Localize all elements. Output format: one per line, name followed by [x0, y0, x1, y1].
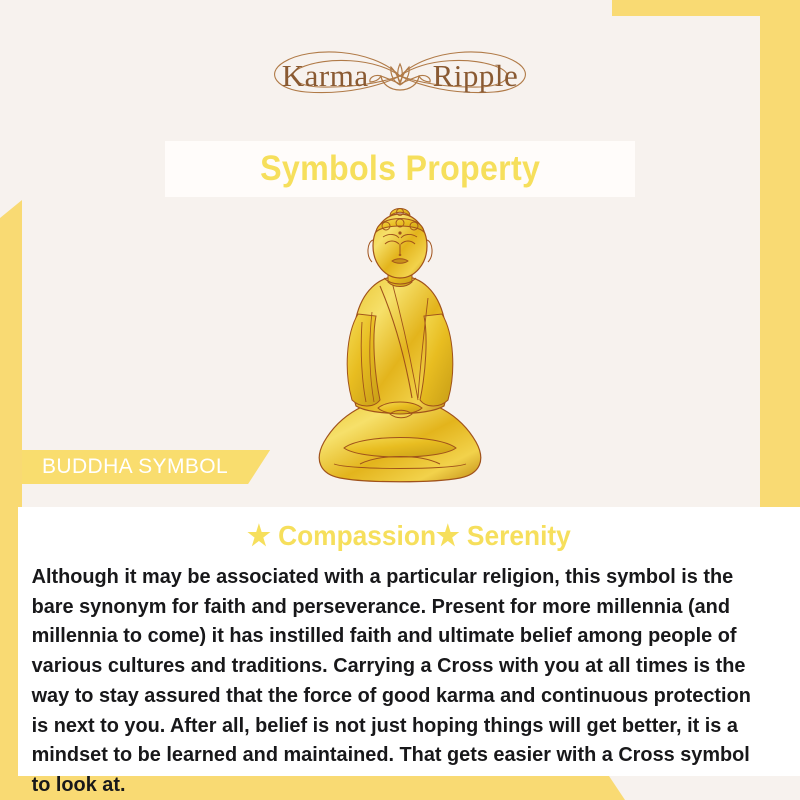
ribbon-label: BUDDHA SYMBOL: [42, 455, 228, 479]
buddha-figure: [0, 202, 800, 492]
golden-buddha-statue-icon: [300, 202, 500, 492]
brand-name-right: Ripple: [433, 58, 519, 94]
content-paragraph: Although it may be associated with a par…: [18, 558, 777, 800]
brand-logo: Karma Ripple: [0, 40, 800, 112]
brand-name-left: Karma: [282, 58, 369, 94]
page-title: Symbols Property: [260, 149, 540, 189]
buddha-symbol-ribbon: BUDDHA SYMBOL: [22, 450, 270, 484]
content-subtitle: ★ Compassion★ Serenity: [41, 507, 776, 558]
content-panel: ★ Compassion★ Serenity Although it may b…: [18, 507, 800, 776]
infographic-page: Karma Ripple Symbols Property: [0, 0, 800, 800]
title-banner: Symbols Property: [165, 141, 635, 197]
